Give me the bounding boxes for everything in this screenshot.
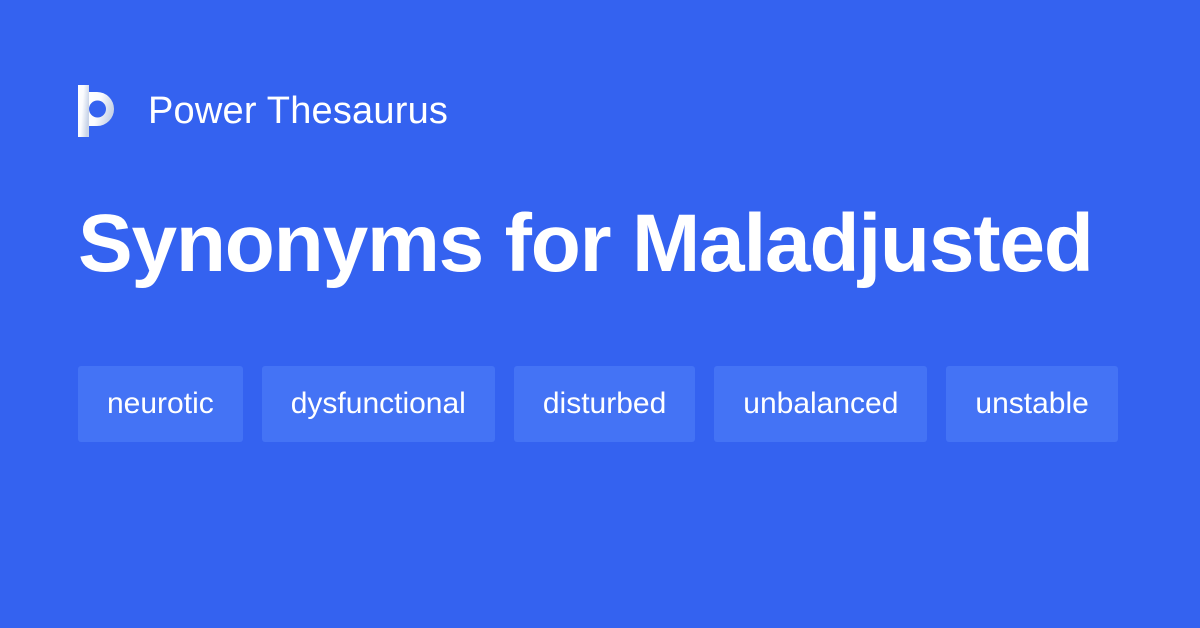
synonym-chip[interactable]: disturbed [514,366,695,442]
brand-header[interactable]: Power Thesaurus [78,80,448,142]
synonym-chip[interactable]: unstable [946,366,1117,442]
synonym-chip-list: neurotic dysfunctional disturbed unbalan… [78,366,1138,442]
share-card: Power Thesaurus Synonyms for Maladjusted… [0,0,1200,628]
synonym-chip[interactable]: dysfunctional [262,366,495,442]
synonym-chip[interactable]: neurotic [78,366,243,442]
page-title: Synonyms for Maladjusted [78,196,1138,292]
power-thesaurus-b-logo-icon [78,85,122,137]
brand-name: Power Thesaurus [148,92,448,130]
synonym-chip[interactable]: unbalanced [714,366,927,442]
